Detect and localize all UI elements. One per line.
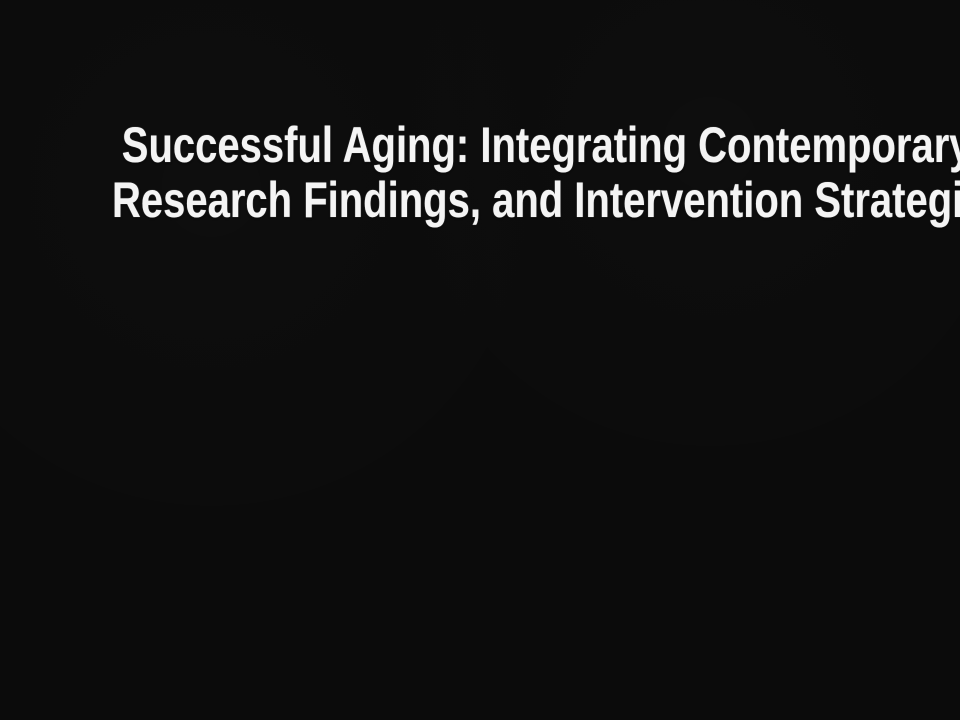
cover-title-line-2-text: Research Findings, and Intervention Stra… — [112, 173, 960, 228]
book-cover: Successful Aging: Integrating Contempora… — [0, 0, 960, 720]
cover-title-line-1: Successful Aging: Integrating Contempora… — [0, 118, 960, 173]
cover-title-line-1-text: Successful Aging: Integrating Contempora… — [122, 118, 960, 173]
cover-title-block: Successful Aging: Integrating Contempora… — [0, 118, 960, 228]
cover-title-line-2: Research Findings, and Intervention Stra… — [0, 173, 960, 228]
